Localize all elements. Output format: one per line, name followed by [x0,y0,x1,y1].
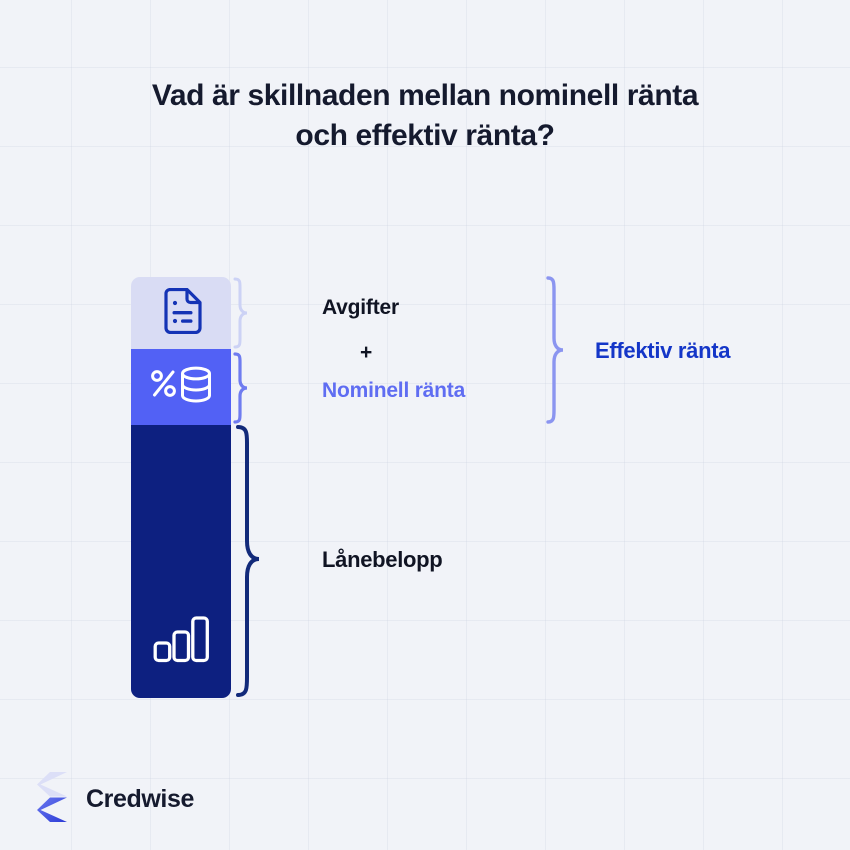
bar-segment-loan-amount [131,425,231,698]
chevron-logo-icon [36,771,72,828]
label-plus-sign: + [360,341,372,365]
brace-effektiv-ranta [543,274,567,435]
bar-segment-nominal-rate [131,349,231,425]
percent-coins-icon [148,364,214,411]
label-nominell-ranta: Nominell ränta [322,379,465,403]
bar-segment-fees [131,277,231,349]
brace-lanebelopp [234,423,262,710]
brace-avgifter [231,275,251,360]
page-title: Vad är skillnaden mellan nominell ränta … [0,76,850,155]
label-avgifter: Avgifter [322,296,399,320]
bar-chart-icon [153,615,211,668]
document-icon [160,288,202,339]
infographic-canvas: Vad är skillnaden mellan nominell ränta … [0,0,850,850]
label-effektiv-ranta: Effektiv ränta [595,338,730,364]
title-line-2: och effektiv ränta? [0,116,850,156]
label-lanebelopp: Lånebelopp [322,547,442,573]
brand-logo: Credwise [36,771,194,828]
stacked-bar-chart [131,277,231,698]
title-line-1: Vad är skillnaden mellan nominell ränta [0,76,850,116]
brand-name: Credwise [86,785,194,814]
